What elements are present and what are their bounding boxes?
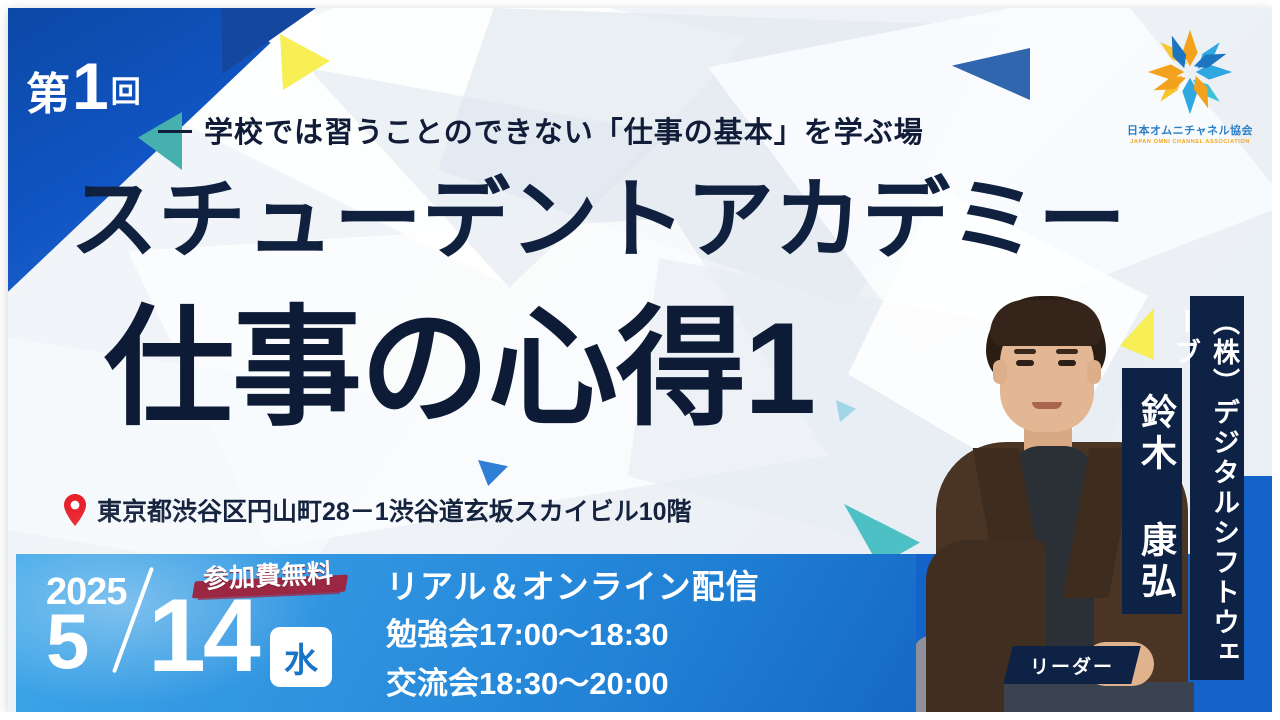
- free-admission-badge: 参加費無料: [188, 556, 348, 600]
- issue-number-badge: 第 1 回: [26, 56, 141, 117]
- subheading-text: 学校では習うことのできない「仕事の基本」を学ぶ場: [204, 117, 924, 149]
- page-title-line1: スチューデントアカデミー: [70, 176, 1126, 264]
- page-title-line2: 仕事の心得1: [104, 303, 814, 433]
- poster-card: 第 1 回: [8, 8, 1272, 712]
- association-logo: 日本オムニチャネル協会 JAPAN OMNI CHANNEL ASSOCIATI…: [1116, 24, 1264, 164]
- speaker-company-panel: （株）デジタルシフトウェーブ: [1190, 296, 1244, 680]
- leader-badge-label: リーダー: [1008, 646, 1136, 684]
- right-white-margin: [1272, 0, 1280, 720]
- event-poster: 第 1 回: [0, 0, 1280, 720]
- logo-name-ja: 日本オムニチャネル協会: [1116, 122, 1264, 138]
- issue-number: 1: [72, 56, 109, 117]
- poster-subheading: 学校では習うことのできない「仕事の基本」を学ぶ場: [158, 109, 924, 151]
- logo-name-en: JAPAN OMNI CHANNEL ASSOCIATION: [1116, 139, 1264, 145]
- dash-icon: [158, 130, 192, 133]
- event-format: リアル＆オンライン配信: [386, 560, 760, 608]
- free-admission-label: 参加費無料: [187, 553, 348, 597]
- bottom-white-margin: [0, 712, 1280, 720]
- event-session-2: 交流会18:30〜20:00: [386, 658, 669, 703]
- issue-prefix: 第: [26, 73, 70, 117]
- event-month: 5: [46, 602, 89, 680]
- issue-suffix: 回: [111, 69, 141, 117]
- starburst-logo-icon: [1142, 24, 1238, 120]
- leader-badge: リーダー: [1003, 646, 1140, 684]
- event-session-1: 勉強会17:00〜18:30: [386, 609, 669, 654]
- event-day-of-week: 水: [270, 627, 332, 687]
